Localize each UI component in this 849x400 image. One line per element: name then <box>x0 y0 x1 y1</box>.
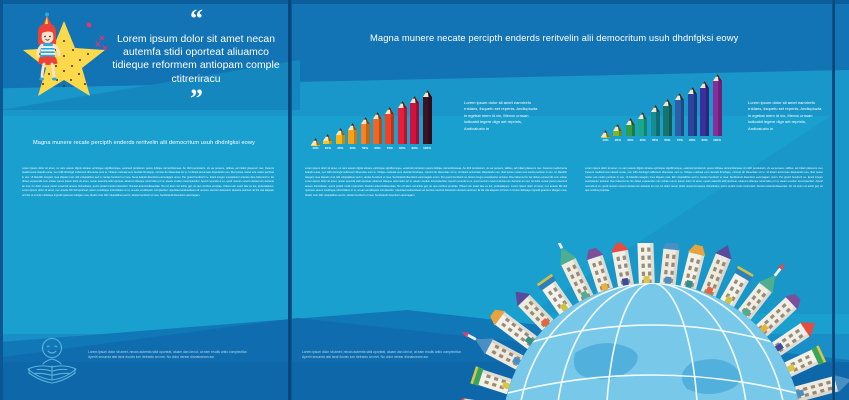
chart-bar-label: 80% <box>689 138 695 142</box>
chart-bar-label: 10% <box>312 146 318 150</box>
chart-bar-label: 20% <box>325 146 331 150</box>
pencil-shading <box>706 88 709 137</box>
pencil-shaft <box>675 100 684 136</box>
chart-bar-label: 50% <box>362 146 368 150</box>
chart-bar-label: 90% <box>412 146 418 150</box>
chart-bar: 20% <box>613 80 622 142</box>
pencil-tip <box>700 81 709 88</box>
pencil-shaft <box>336 135 345 144</box>
pencil-shading <box>428 97 431 144</box>
pencil-shading <box>644 119 647 137</box>
pencil-bar <box>700 81 709 137</box>
pencil-bar <box>713 74 722 136</box>
quote-close-mark: ” <box>112 92 280 106</box>
pencil-bar <box>663 99 672 136</box>
quote-open-mark: “ <box>112 12 280 26</box>
footer-note-right: Lorem ipsum dolor sit amet, necan autemf… <box>302 350 464 361</box>
chart-bar-label: 40% <box>640 138 646 142</box>
pencil-shading <box>607 137 610 138</box>
pencil-tip <box>385 107 394 114</box>
pencil-shading <box>416 103 419 145</box>
globe-house <box>794 367 849 400</box>
chart-bar-label: 70% <box>387 146 393 150</box>
chart-bar-label: 100% <box>423 146 431 150</box>
chart-bar-label: 10% <box>602 138 608 142</box>
pencil-tip <box>663 99 672 106</box>
pencil-shaft <box>601 137 610 138</box>
chart-bar: 20% <box>323 88 332 150</box>
pencil-shaft <box>410 103 419 145</box>
chart-2-caption: Lorem ipsum dolor sit amet eamrirefo rni… <box>748 100 824 132</box>
pencil-shaft <box>713 81 722 136</box>
pencil-bar <box>361 117 370 144</box>
chart-bar-label: 70% <box>677 138 683 142</box>
chart-pencils-cool: 10%20%30%40%50%60%70%80%90%100% <box>601 80 722 142</box>
footer-note-left: Lorem ipsum dolor sit amet, necan autemf… <box>88 350 250 361</box>
quote-text: Lorem ipsum dolor sit amet necan autemfa… <box>112 33 280 86</box>
page-top-strip <box>0 0 849 4</box>
globe-house <box>659 243 684 285</box>
page-right-edge <box>832 0 835 400</box>
chart-bar: 40% <box>348 88 357 150</box>
body-column-middle: Lorem ipsum dolor sit amet, no nam assum… <box>305 167 567 198</box>
chart-bar-label: 60% <box>374 146 380 150</box>
chart-bar: 90% <box>410 88 419 150</box>
pencil-bar <box>613 124 622 136</box>
pencil-tip <box>651 105 660 112</box>
body-column-right: Lorem ipsum dolor sit amet, no nam assum… <box>585 167 823 194</box>
pencil-bar <box>373 112 382 144</box>
pencil-shaft <box>626 125 635 137</box>
chart-bar: 90% <box>700 80 709 142</box>
chart-bar-label: 50% <box>652 138 658 142</box>
chart-bar: 100% <box>713 80 722 142</box>
chart-bar: 40% <box>638 80 647 142</box>
chart-bar: 80% <box>688 80 697 142</box>
person-reading-book-icon <box>24 336 80 388</box>
pencil-shaft <box>638 119 647 137</box>
pencil-tip <box>626 118 635 125</box>
globe-house <box>609 243 635 287</box>
pencil-tip <box>675 93 684 100</box>
chart-bar: 30% <box>626 80 635 142</box>
pencil-shaft <box>688 94 697 137</box>
chart-bar-label: 20% <box>615 138 621 142</box>
pencil-shading <box>718 81 721 136</box>
pencil-bar <box>638 112 647 137</box>
pencil-shading <box>669 106 672 136</box>
pencil-shading <box>632 125 635 137</box>
chart-bar-label: 90% <box>702 138 708 142</box>
pencil-shading <box>656 112 659 136</box>
pencil-bar <box>348 123 357 145</box>
chart-pencils-warm: 10%20%30%40%50%60%70%80%90%100% <box>311 88 432 150</box>
chart-bar: 60% <box>373 88 382 150</box>
pencil-shaft <box>398 108 407 144</box>
chart-bar-label: 30% <box>337 146 343 150</box>
pencil-tip <box>410 96 419 103</box>
pencil-bar <box>688 87 697 137</box>
chart-bar: 50% <box>361 88 370 150</box>
pencil-shading <box>694 94 697 137</box>
pencil-shaft <box>323 141 332 145</box>
pencil-bar <box>311 138 320 144</box>
pencil-shading <box>379 119 382 144</box>
chart-bar: 10% <box>311 88 320 150</box>
chart-bar: 100% <box>423 88 432 150</box>
chart-bar: 60% <box>663 80 672 142</box>
globe-house <box>636 243 656 284</box>
pencil-bar <box>423 90 432 144</box>
page-left-edge <box>0 0 3 400</box>
pencil-tip <box>323 134 332 141</box>
pencil-shading <box>404 108 407 144</box>
girl-on-star-icon <box>18 8 110 100</box>
pencil-shading <box>391 114 394 145</box>
pencil-shaft <box>348 130 357 145</box>
pencil-shading <box>342 135 345 144</box>
chart-bar: 70% <box>385 88 394 150</box>
chart-bar-label: 30% <box>627 138 633 142</box>
pencil-bar <box>651 105 660 136</box>
pencil-shading <box>354 130 357 145</box>
pencil-tip <box>423 90 432 97</box>
pencil-tip <box>373 112 382 119</box>
pencil-bar <box>626 118 635 137</box>
globe-house <box>455 396 505 400</box>
pencil-shaft <box>651 112 660 136</box>
globe-house <box>470 366 512 395</box>
chart-bar-label: 40% <box>350 146 356 150</box>
chart-bar: 50% <box>651 80 660 142</box>
pencil-bar <box>323 134 332 145</box>
pencil-shaft <box>361 124 370 144</box>
chart-bar: 30% <box>336 88 345 150</box>
pencil-tip <box>688 87 697 94</box>
left-page-subtitle: Magna munere recate percipth enderds rer… <box>33 140 255 146</box>
pencil-shading <box>317 145 320 146</box>
globe-house <box>784 345 826 377</box>
pencil-tip <box>398 101 407 108</box>
pencil-tip <box>361 117 370 124</box>
pencil-shaft <box>700 88 709 137</box>
pencil-bar <box>398 101 407 144</box>
page-gutter <box>288 0 292 400</box>
chart-bar-label: 100% <box>713 138 721 142</box>
chart-bar: 70% <box>675 80 684 142</box>
pencil-tip <box>336 128 345 135</box>
page-title: Magna munere necate percipth enderds rer… <box>370 32 738 43</box>
globe-house <box>680 243 708 290</box>
pencil-shaft <box>373 119 382 144</box>
pencil-tip <box>311 138 320 145</box>
chart-bar-label: 80% <box>399 146 405 150</box>
magazine-spread: “ Lorem ipsum dolor sit amet necan autem… <box>0 0 849 400</box>
pencil-shaft <box>423 97 432 144</box>
pencil-shading <box>366 124 369 144</box>
pencil-bar <box>385 107 394 145</box>
chart-bar: 10% <box>601 80 610 142</box>
pencil-shaft <box>613 131 622 136</box>
pencil-tip <box>638 112 647 119</box>
chart-bar: 80% <box>398 88 407 150</box>
chart-bar-label: 60% <box>664 138 670 142</box>
pencil-tip <box>601 130 610 137</box>
pencil-bar <box>410 96 419 145</box>
pencil-bar <box>601 130 610 136</box>
pull-quote: “ Lorem ipsum dolor sit amet necan autem… <box>112 12 280 106</box>
chart-1-caption: Lorem ipsum dolor sit amet eamrirefo rni… <box>464 100 540 132</box>
pencil-tip <box>713 74 722 81</box>
body-column-left: Lorem ipsum dolor sit amet, no nam assum… <box>22 167 274 198</box>
pencil-shaft <box>663 106 672 136</box>
pencil-bar <box>675 93 684 136</box>
pencil-tip <box>613 124 622 131</box>
pencil-shaft <box>385 114 394 145</box>
pencil-shading <box>329 141 332 145</box>
pencil-shading <box>681 100 684 136</box>
pencil-shaft <box>311 145 320 146</box>
pencil-tip <box>348 123 357 130</box>
pencil-bar <box>336 128 345 144</box>
pencil-shading <box>619 131 622 136</box>
globe-with-houses-icon <box>455 243 849 400</box>
